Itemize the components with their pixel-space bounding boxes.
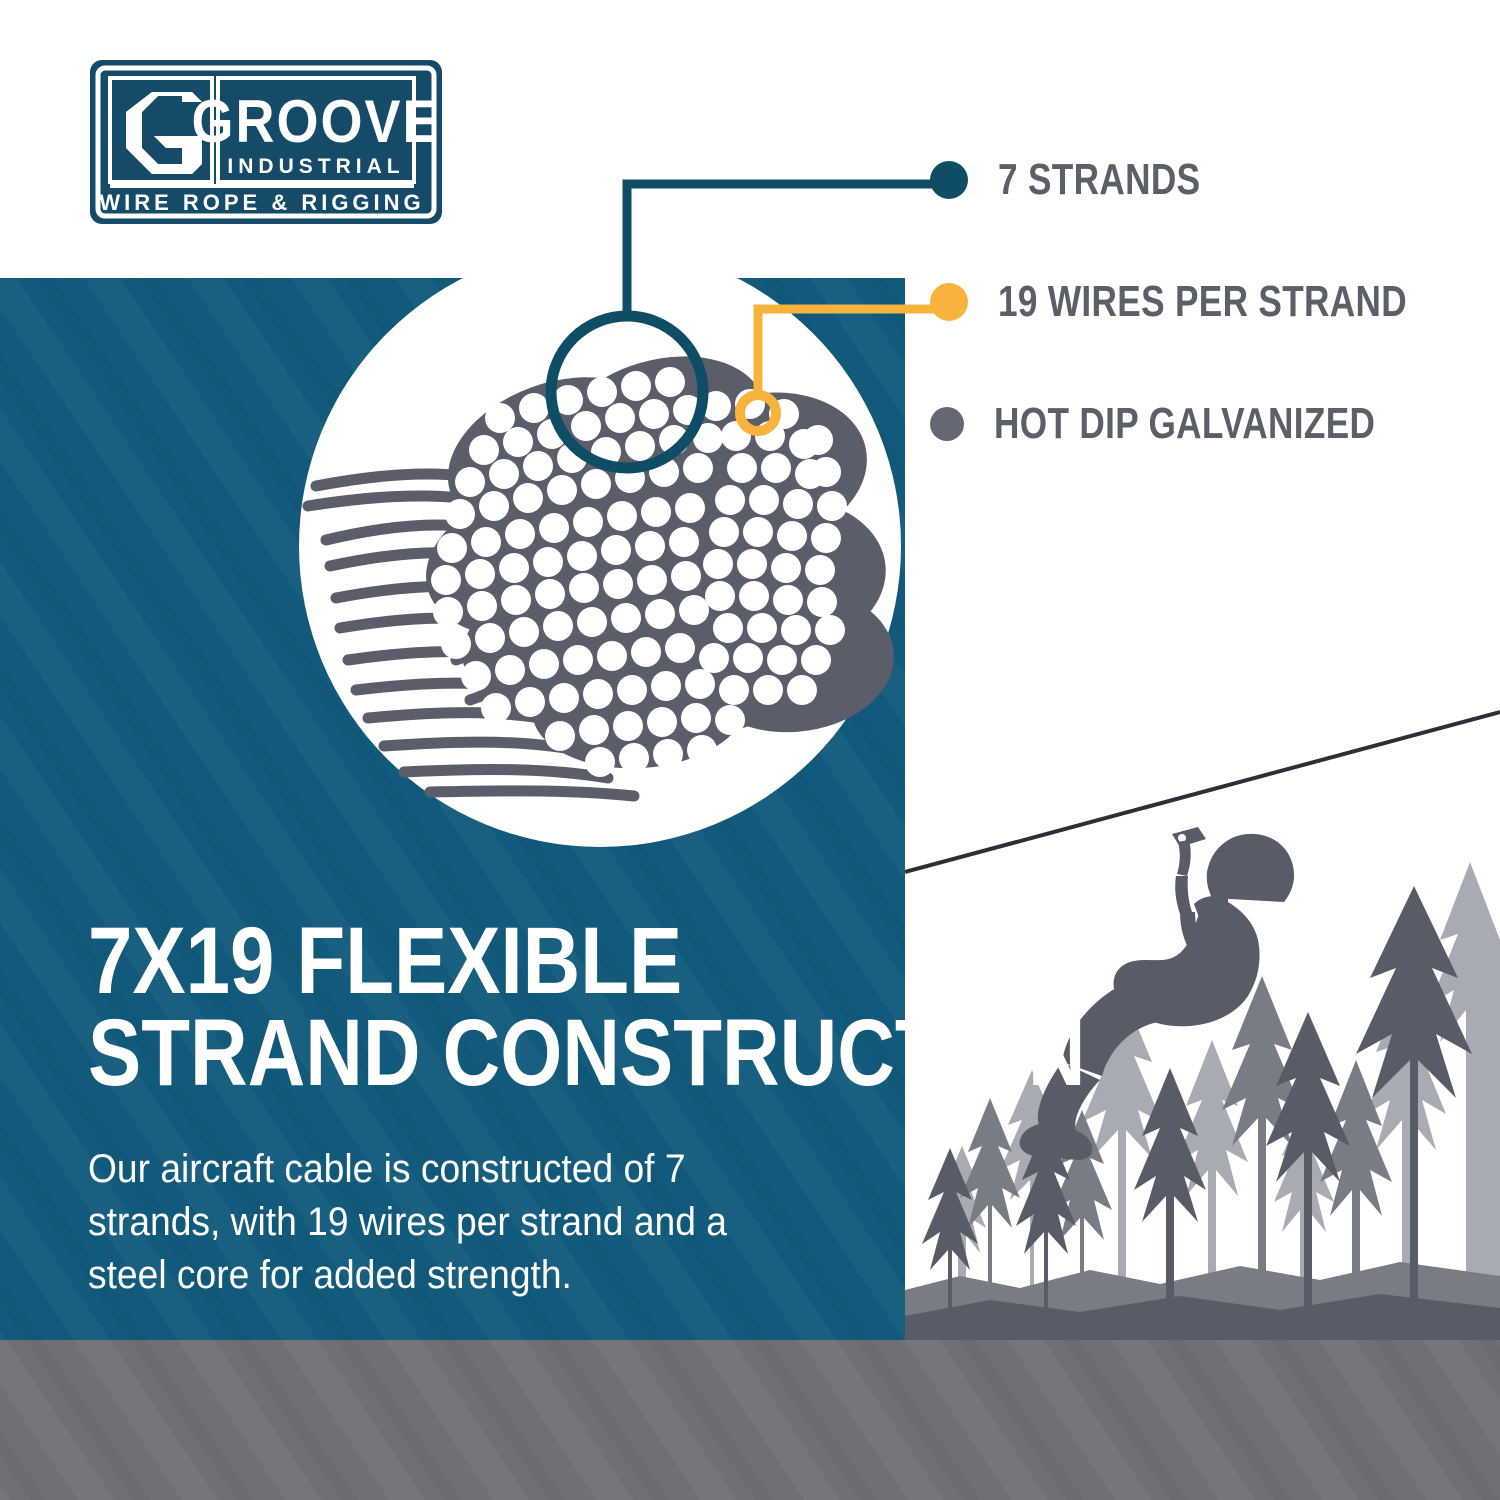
headline-line-2: STRAND CONSTRUCTION xyxy=(88,1007,752,1099)
body-copy: Our aircraft cable is constructed of 7 s… xyxy=(88,1143,758,1301)
callout-dot-galvanized xyxy=(930,407,964,441)
bottom-band xyxy=(0,1340,1500,1500)
headline: 7X19 FLEXIBLE STRAND CONSTRUCTION xyxy=(88,915,752,1099)
callout-label-galvanized: HOT DIP GALVANIZED xyxy=(994,399,1375,449)
brand-tagline: WIRE ROPE & RIGGING xyxy=(99,190,424,215)
callout-dot-wires xyxy=(930,283,968,321)
brand-subtitle: INDUSTRIAL xyxy=(227,155,404,178)
callout-item-galvanized[interactable]: HOT DIP GALVANIZED xyxy=(930,394,1490,454)
callout-item-wires[interactable]: 19 WIRES PER STRAND xyxy=(930,272,1490,332)
brand-name: GROOVE xyxy=(191,88,440,156)
callout-dot-strands xyxy=(930,161,968,199)
callout-label-wires: 19 WIRES PER STRAND xyxy=(998,277,1407,327)
callout-item-strands[interactable]: 7 STRANDS xyxy=(930,150,1490,210)
brand-logo[interactable]: GROOVE INDUSTRIAL WIRE ROPE & RIGGING xyxy=(88,58,444,226)
callout-label-strands: 7 STRANDS xyxy=(998,155,1200,205)
callout-list: 7 STRANDS 19 WIRES PER STRAND HOT DIP GA… xyxy=(930,150,1490,454)
panel-text-block: 7X19 FLEXIBLE STRAND CONSTRUCTION Our ai… xyxy=(88,915,878,1302)
infographic-canvas: GROOVE INDUSTRIAL WIRE ROPE & RIGGING 7 … xyxy=(0,0,1500,1500)
headline-line-1: 7X19 FLEXIBLE xyxy=(88,908,682,1014)
